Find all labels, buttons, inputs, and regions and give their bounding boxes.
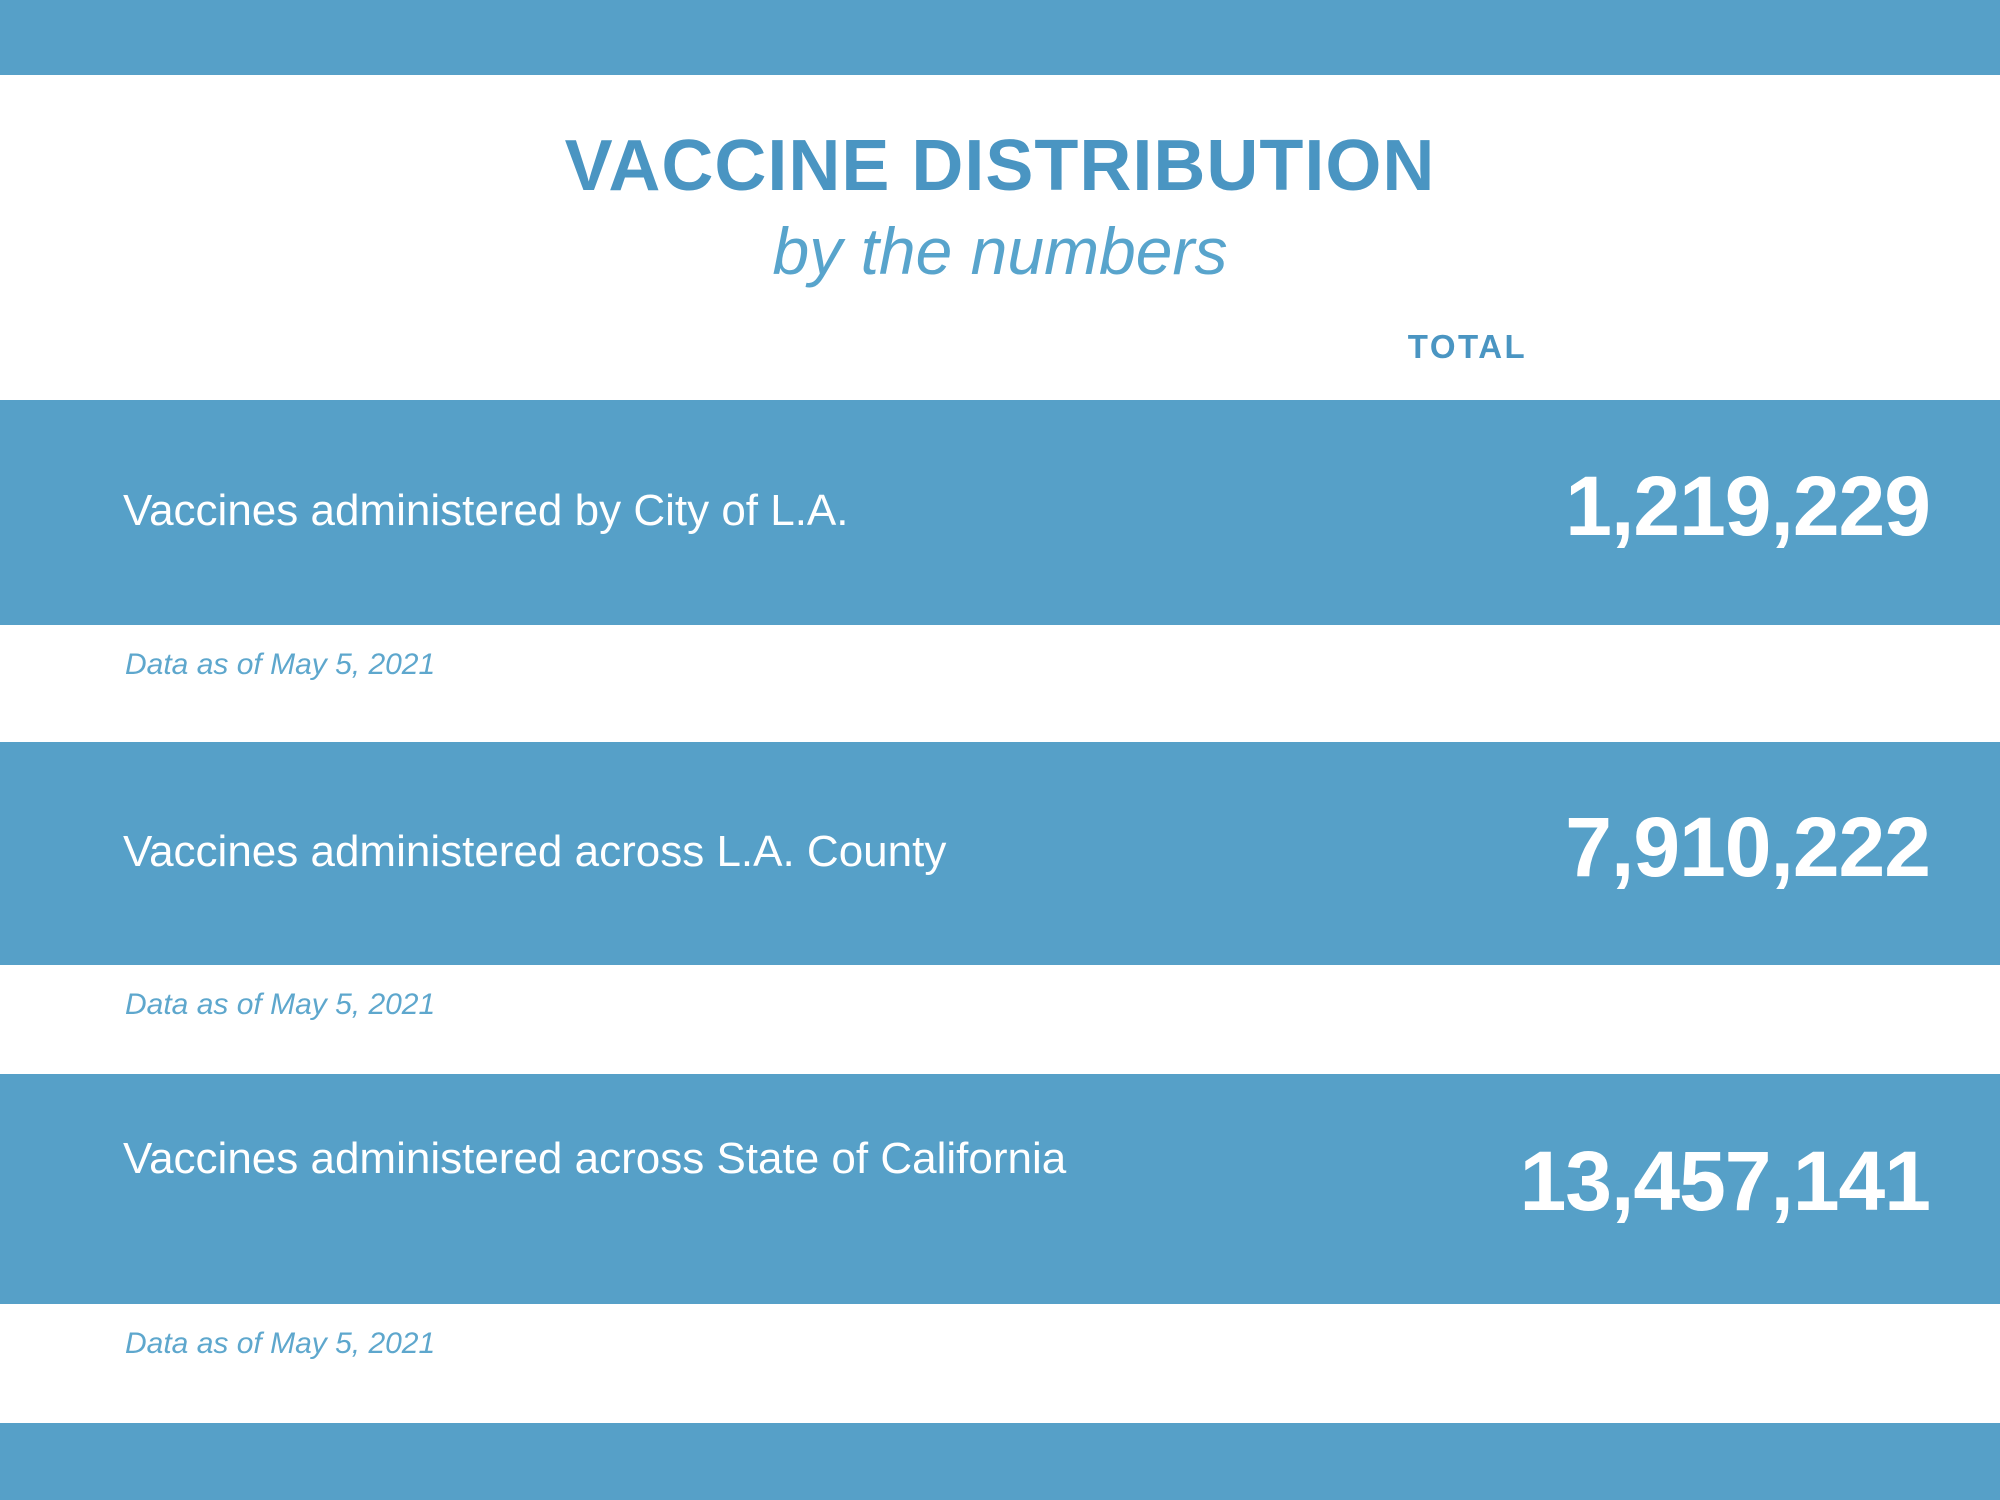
stat-row: Vaccines administered across State of Ca… bbox=[0, 1074, 2000, 1423]
stat-label: Vaccines administered by City of L.A. bbox=[123, 484, 1243, 538]
stat-value: 1,219,229 bbox=[1243, 464, 2000, 548]
bottom-accent-bar bbox=[0, 1423, 2000, 1500]
stat-label: Vaccines administered across L.A. County bbox=[123, 825, 1243, 879]
stat-row: Vaccines administered across L.A. County… bbox=[0, 742, 2000, 1074]
page-title: VACCINE DISTRIBUTION bbox=[0, 130, 2000, 202]
stat-caption: Data as of May 5, 2021 bbox=[125, 1329, 435, 1359]
stat-label: Vaccines administered across State of Ca… bbox=[123, 1132, 1243, 1186]
stat-value: 13,457,141 bbox=[1243, 1139, 2000, 1223]
total-column-header: TOTAL bbox=[1180, 330, 1755, 363]
stat-value: 7,910,222 bbox=[1243, 805, 2000, 889]
stat-row: Vaccines administered by City of L.A. 1,… bbox=[0, 400, 2000, 740]
page-subtitle: by the numbers bbox=[0, 218, 2000, 284]
stat-caption: Data as of May 5, 2021 bbox=[125, 650, 435, 680]
stat-caption: Data as of May 5, 2021 bbox=[125, 990, 435, 1020]
top-accent-bar bbox=[0, 0, 2000, 75]
